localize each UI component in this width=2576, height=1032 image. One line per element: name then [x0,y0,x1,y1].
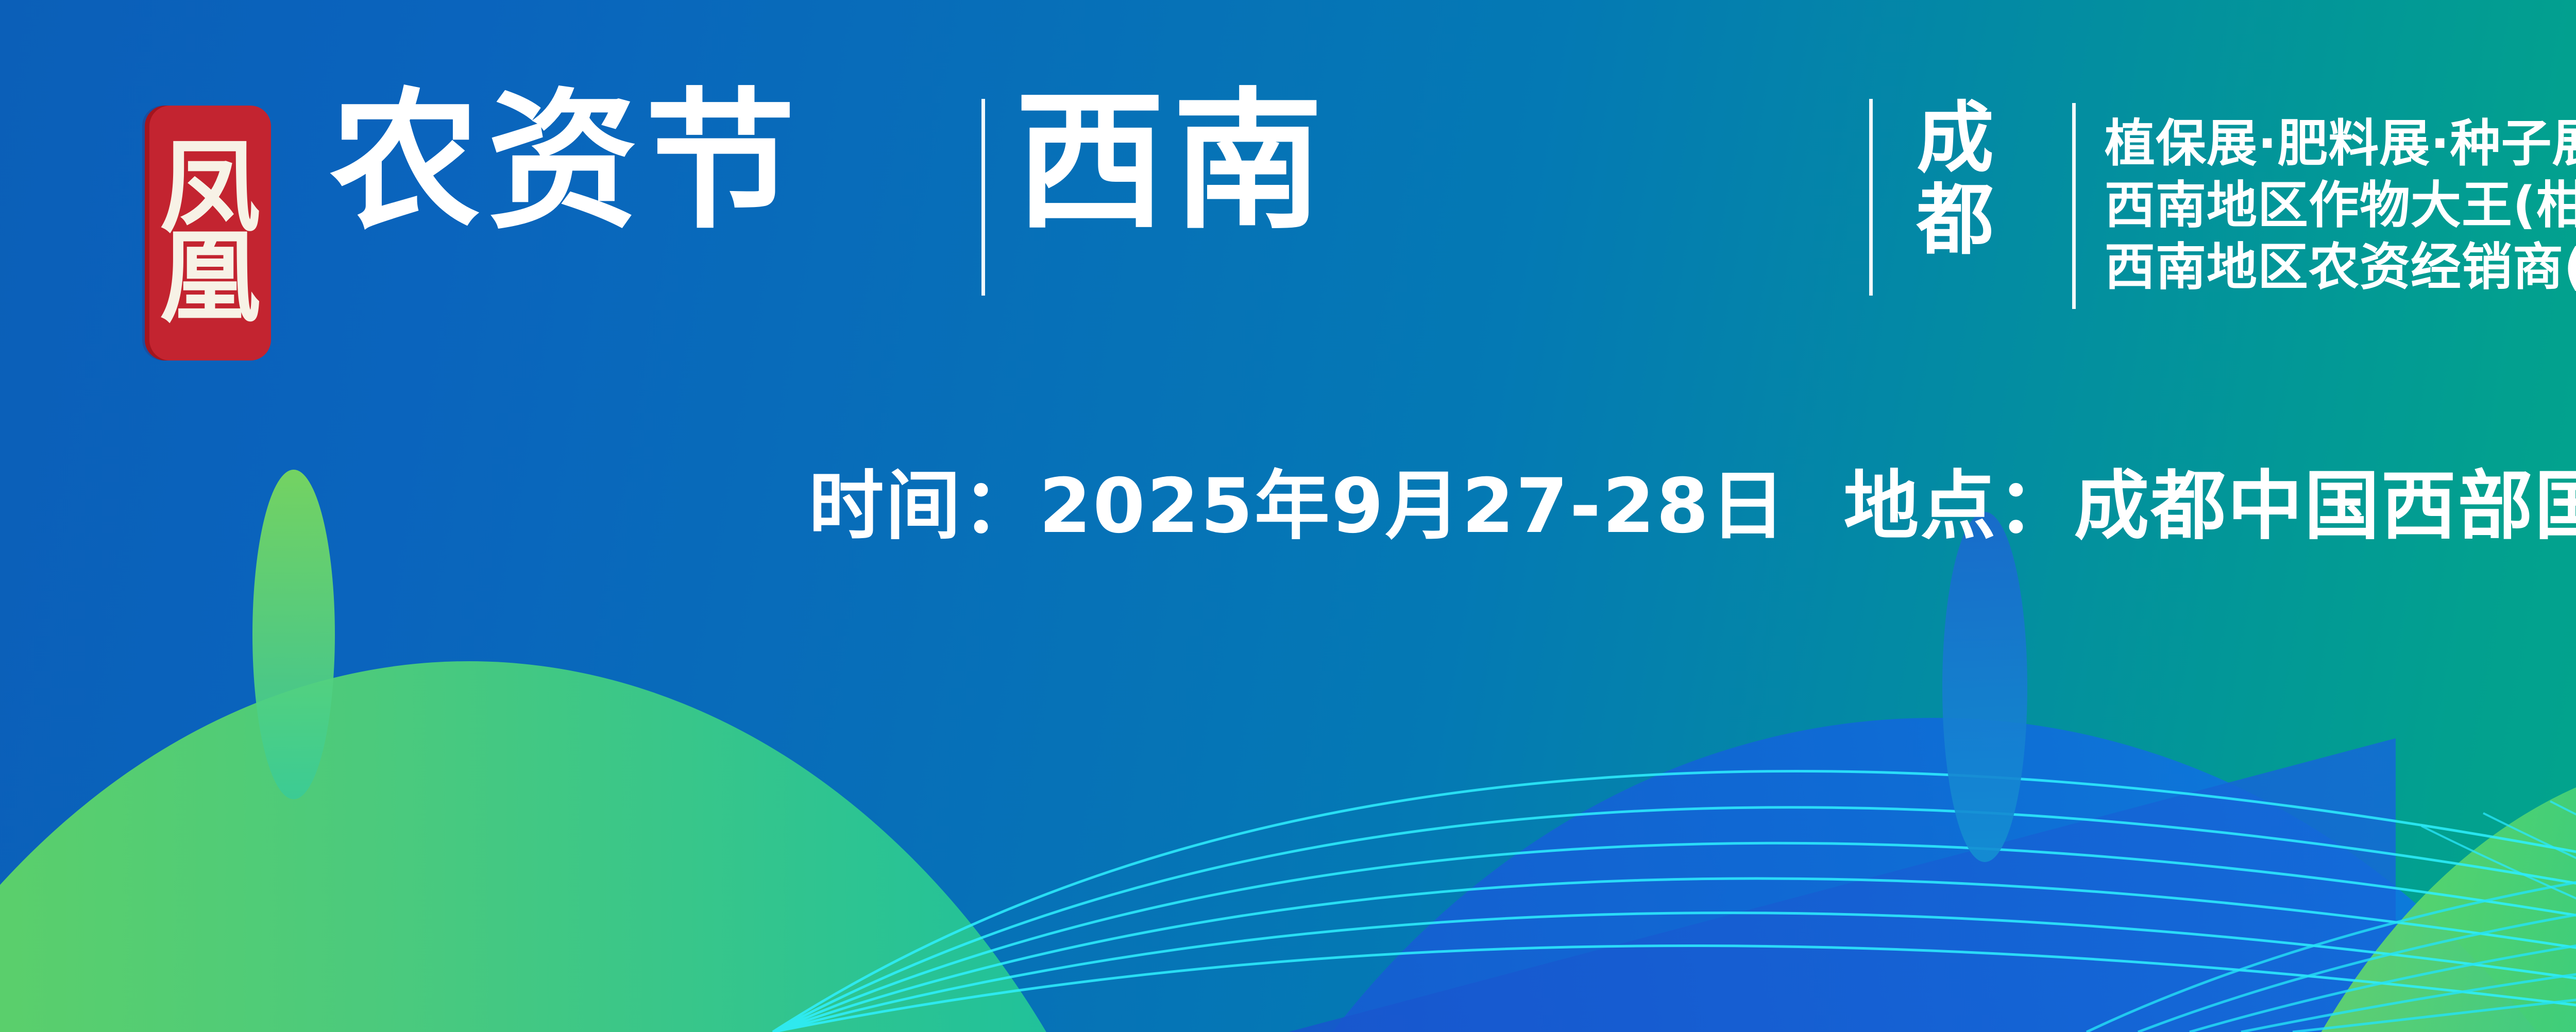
subtitle-list: 植保展·肥料展·种子展·农用机械及植保器械展·包装展 西南地区作物大王(柑橘/猕… [2105,103,2576,309]
city-char-2: 都 [1906,180,2004,262]
seal-char-top: 凤 [160,146,261,231]
event-title-main: 农资节 [330,87,803,237]
event-place: 地点：成都中国西部国际博览城 [1843,466,2576,547]
city-char-1: 成 [1906,98,2004,180]
banner-content: 凤 凰 农资节 西南 成 都 植保展·肥料展·种子展·农用机械及植保器械展·包装… [0,0,2576,1032]
title-divider-1 [981,99,985,296]
subtitle-line-2: 西南地区作物大王(柑橘/猕猴桃)万人峰会 [2105,180,2576,232]
fenghuang-seal-logo: 凤 凰 [149,106,271,360]
title-divider-3 [2072,103,2076,309]
subtitle-line-1: 植保展·肥料展·种子展·农用机械及植保器械展·包装展 [2105,118,2576,170]
event-banner: 凤 凰 农资节 西南 成 都 植保展·肥料展·种子展·农用机械及植保器械展·包装… [0,0,2576,1032]
event-city: 成 都 [1906,98,2004,262]
event-title-region: 西南 [1015,87,1330,237]
title-divider-2 [1869,99,1873,296]
event-date: 时间：2025年9月27-28日 [809,466,1787,547]
event-meta-row: 时间：2025年9月27-28日 地点：成都中国西部国际博览城 [0,466,2576,547]
subtitle-line-3: 西南地区农资经销商(川/渝/云/黔)千商大会 [2105,242,2576,294]
seal-char-bottom: 凰 [160,236,261,321]
